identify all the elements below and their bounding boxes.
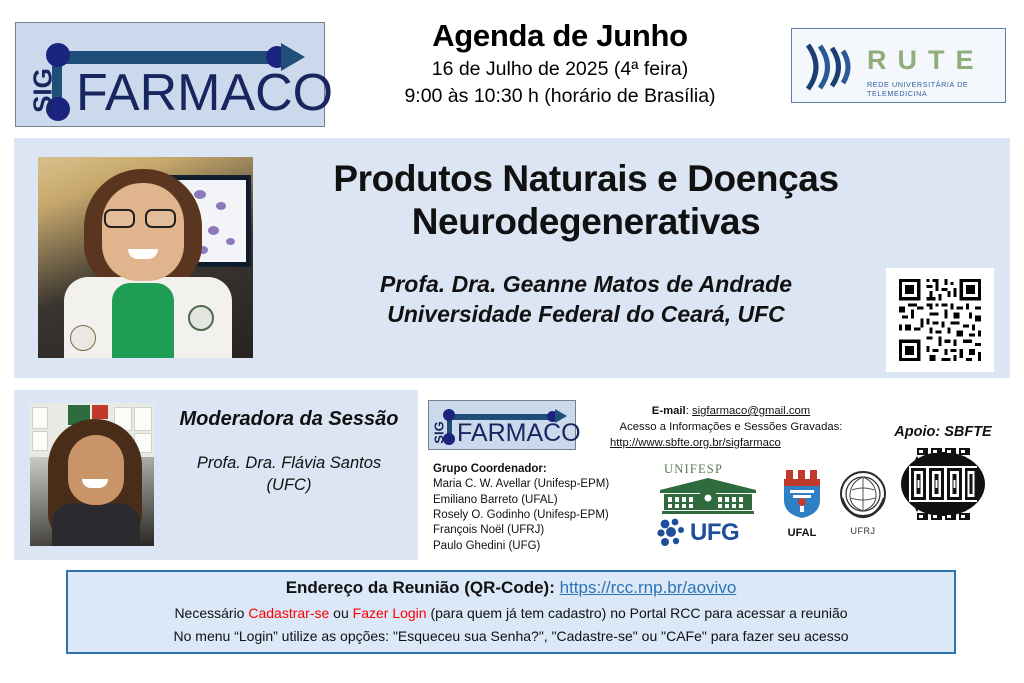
sig-logo-sig-text: SIG — [28, 60, 59, 122]
email-row: E-mail: sigfarmaco@gmail.com — [596, 403, 866, 419]
moderator-panel: Moderadora da Sessão Profa. Dra. Flávia … — [14, 390, 418, 560]
access-line: Acesso a Informações e Sessões Gravadas: — [596, 419, 866, 435]
rute-logo-subtitle: REDE UNIVERSITÁRIA DE TELEMEDICINA — [867, 80, 1005, 98]
university-logos: UNIFESP UFG — [650, 462, 850, 558]
ufg-dots-icon — [656, 518, 690, 548]
unifesp-logo-text: UNIFESP — [664, 462, 723, 477]
main-panel: Produtos Naturais e Doenças Neurodegener… — [14, 138, 1010, 378]
header: SIG FARMACO Agenda de Junho 16 de Julho … — [0, 0, 1024, 138]
session-title-line2: Neurodegenerativas — [276, 201, 896, 244]
speaker-photo — [38, 157, 253, 358]
registration-text-c: (para quem já tem cadastro) no Portal RC… — [427, 605, 848, 621]
coordination-group: Grupo Coordenador: Maria C. W. Avellar (… — [433, 462, 609, 554]
title-block: Produtos Naturais e Doenças Neurodegener… — [276, 158, 896, 330]
login-link[interactable]: Fazer Login — [353, 605, 427, 621]
coordination-heading: Grupo Coordenador: — [433, 462, 609, 477]
unifesp-building-icon — [656, 476, 760, 516]
ufal-shield-icon — [780, 468, 824, 520]
register-link[interactable]: Cadastrar-se — [248, 605, 329, 621]
email-address[interactable]: sigfarmaco@gmail.com — [692, 405, 810, 417]
moderator-affiliation: (UFC) — [164, 475, 414, 497]
meeting-link[interactable]: https://rcc.rnp.br/aovivo — [560, 578, 737, 597]
sig-farmaco-logo-small: SIG FARMACO — [428, 400, 576, 450]
coordinator-item: Rosely O. Godinho (Unifesp-EPM) — [433, 508, 609, 523]
rute-logo: RUTE REDE UNIVERSITÁRIA DE TELEMEDICINA — [791, 28, 1006, 103]
speaker-name: Profa. Dra. Geanne Matos de Andrade — [276, 270, 896, 300]
meeting-address-line: Endereço da Reunião (QR-Code): https://r… — [68, 578, 954, 598]
contact-block: E-mail: sigfarmaco@gmail.com Acesso a In… — [596, 403, 866, 451]
rute-wave-icon — [802, 41, 862, 93]
sig-logo-farmaco-text: FARMACO — [76, 63, 333, 123]
qr-code[interactable] — [886, 268, 994, 372]
page-title: Agenda de Junho — [340, 18, 780, 54]
rute-logo-letters: RUTE — [867, 45, 985, 76]
ufg-logo: UFG — [656, 518, 739, 548]
moderator-heading: Moderadora da Sessão — [164, 408, 414, 431]
coordinator-item: François Noël (UFRJ) — [433, 523, 609, 538]
email-separator: : — [686, 405, 689, 417]
login-menu-instructions: No menu “Login” utilize as opções: "Esqu… — [68, 628, 954, 644]
eyeglasses — [104, 209, 182, 228]
email-label: E-mail — [652, 405, 686, 417]
support-label: Apoio: SBFTE — [878, 424, 1008, 440]
coordinator-item: Paulo Ghedini (UFG) — [433, 539, 609, 554]
event-time: 9:00 às 10:30 h (horário de Brasília) — [340, 85, 780, 108]
ufal-logo-text: UFAL — [774, 527, 830, 539]
sig-farmaco-logo: SIG FARMACO — [15, 22, 325, 127]
meeting-address-box: Endereço da Reunião (QR-Code): https://r… — [66, 570, 956, 654]
moderator-name: Profa. Dra. Flávia Santos — [164, 453, 414, 475]
coordinator-item: Emiliano Barreto (UFAL) — [433, 493, 609, 508]
moderator-photo — [30, 403, 154, 546]
header-center: Agenda de Junho 16 de Julho de 2025 (4ª … — [340, 18, 780, 108]
event-date: 16 de Julho de 2025 (4ª feira) — [340, 58, 780, 81]
meeting-address-label: Endereço da Reunião (QR-Code): — [286, 578, 555, 597]
recordings-url[interactable]: http://www.sbfte.org.br/sigfarmaco — [596, 435, 866, 451]
ufal-logo: UFAL — [774, 468, 830, 539]
sbfte-logo-icon — [895, 444, 991, 524]
session-title-line1: Produtos Naturais e Doenças — [276, 158, 896, 201]
registration-text-a: Necessário — [174, 605, 248, 621]
registration-instructions: Necessário Cadastrar-se ou Fazer Login (… — [68, 605, 954, 621]
ufg-logo-text: UFG — [690, 519, 739, 547]
sig-logo-small-farmaco-text: FARMACO — [457, 419, 581, 448]
support-block: Apoio: SBFTE — [878, 424, 1008, 529]
speaker-affiliation: Universidade Federal do Ceará, UFC — [276, 300, 896, 330]
coordinator-item: Maria C. W. Avellar (Unifesp-EPM) — [433, 477, 609, 492]
registration-text-b: ou — [329, 605, 352, 621]
qr-code-icon — [896, 276, 984, 364]
sig-logo-small-sig-text: SIG — [432, 417, 447, 449]
